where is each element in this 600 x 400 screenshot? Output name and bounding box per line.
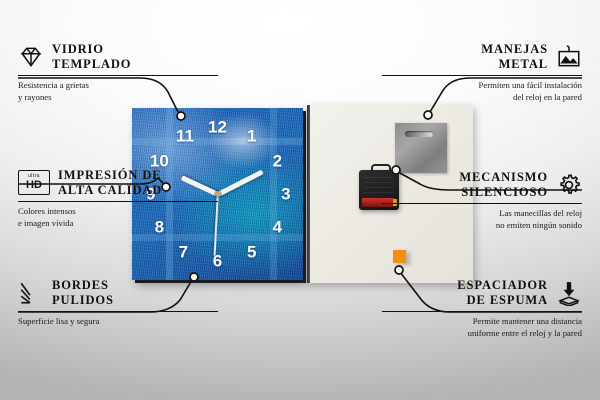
infographic-canvas: 12 1 2 3 4 5 6 7 8 9 10 11 bbox=[0, 0, 600, 400]
clock-numeral-4: 4 bbox=[273, 218, 282, 235]
clock-numeral-3: 3 bbox=[281, 186, 290, 203]
clock-numeral-1: 1 bbox=[247, 127, 256, 144]
clock-numeral-7: 7 bbox=[179, 244, 188, 261]
metal-hanger-icon bbox=[395, 123, 447, 173]
callout-header: ultra HD IMPRESIÓN DEALTA CALIDAD bbox=[18, 168, 218, 198]
callout-vidrio-templado: VIDRIOTEMPLADO Resistencia a grietasy ra… bbox=[18, 42, 218, 104]
clock-numeral-11: 11 bbox=[176, 127, 194, 144]
foam-spacer-square bbox=[393, 250, 406, 263]
clock-numeral-2: 2 bbox=[273, 153, 282, 170]
polished-edges-icon bbox=[18, 280, 44, 306]
callout-title: MECANISMOSILENCIOSO bbox=[459, 170, 548, 200]
callout-subtitle: Permiten una fácil instalacióndel reloj … bbox=[382, 80, 582, 103]
callout-espaciador-espuma: ESPACIADORDE ESPUMA Permite mantener una… bbox=[382, 278, 582, 340]
callout-manejas-metal: MANEJASMETAL Permiten una fácil instalac… bbox=[382, 42, 582, 104]
callout-title: BORDESPULIDOS bbox=[52, 278, 114, 308]
callout-subtitle: Superficie lisa y segura bbox=[18, 316, 218, 328]
callout-mecanismo-silencioso: MECANISMOSILENCIOSO Las manecillas del r… bbox=[382, 170, 582, 232]
callout-title: MANEJASMETAL bbox=[481, 42, 548, 72]
callout-impresion-alta-calidad: ultra HD IMPRESIÓN DEALTA CALIDAD Colore… bbox=[18, 168, 218, 230]
callout-header: ESPACIADORDE ESPUMA bbox=[382, 278, 582, 308]
callout-divider bbox=[18, 201, 218, 203]
wall-hanger-icon bbox=[556, 44, 582, 70]
callout-subtitle: Las manecillas del relojno emiten ningún… bbox=[382, 208, 582, 231]
callout-divider bbox=[382, 203, 582, 205]
clock-numeral-12: 12 bbox=[208, 118, 227, 135]
callout-subtitle: Permite mantener una distanciauniforme e… bbox=[382, 316, 582, 339]
ultra-hd-icon-main-label: HD bbox=[26, 180, 42, 191]
callout-subtitle: Resistencia a grietasy rayones bbox=[18, 80, 218, 103]
clock-numeral-5: 5 bbox=[247, 244, 256, 261]
callout-bordes-pulidos: BORDESPULIDOS Superficie lisa y segura bbox=[18, 278, 218, 328]
callout-header: MECANISMOSILENCIOSO bbox=[382, 170, 582, 200]
gear-icon bbox=[556, 172, 582, 198]
callout-divider bbox=[382, 75, 582, 77]
callout-divider bbox=[18, 311, 218, 313]
callout-divider bbox=[18, 75, 218, 77]
callout-subtitle: Colores intensose imagen vívida bbox=[18, 206, 218, 229]
callout-divider bbox=[382, 311, 582, 313]
foam-spacer-icon bbox=[556, 280, 582, 306]
callout-title: VIDRIOTEMPLADO bbox=[52, 42, 131, 72]
diamond-icon bbox=[18, 44, 44, 70]
callout-header: VIDRIOTEMPLADO bbox=[18, 42, 218, 72]
callout-header: BORDESPULIDOS bbox=[18, 278, 218, 308]
ultra-hd-icon: ultra HD bbox=[18, 170, 50, 195]
callout-title: IMPRESIÓN DEALTA CALIDAD bbox=[58, 168, 162, 198]
callout-header: MANEJASMETAL bbox=[382, 42, 582, 72]
callout-title: ESPACIADORDE ESPUMA bbox=[457, 278, 548, 308]
hanger-slot bbox=[405, 131, 433, 137]
